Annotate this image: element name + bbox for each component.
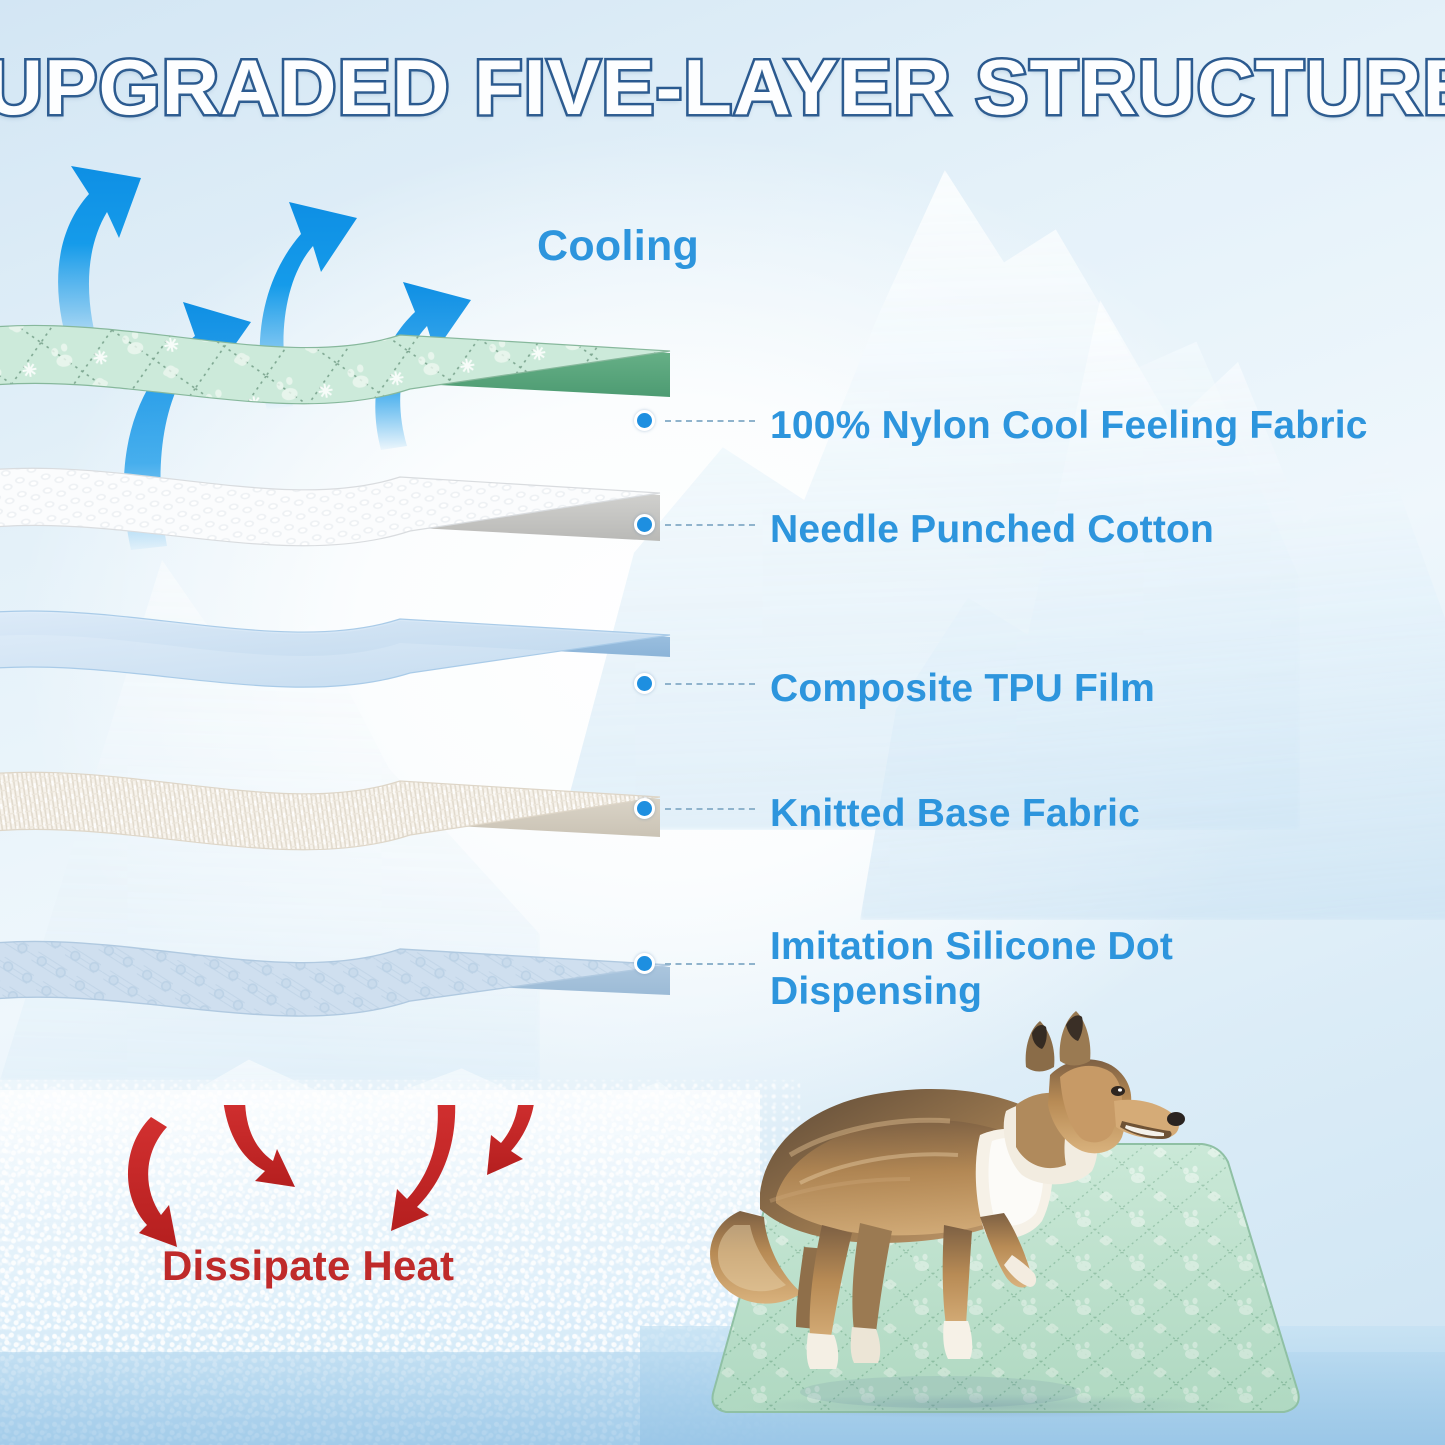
layer-5-label-line1: Imitation Silicone Dot	[770, 924, 1173, 970]
layer-3-tpu-film	[0, 611, 670, 687]
layer-1-leader-line	[665, 420, 755, 422]
layer-stack	[0, 355, 710, 1185]
heat-arrow-1-icon	[128, 1117, 177, 1247]
dog-shadow	[800, 1376, 1080, 1408]
heat-arrow-3-icon	[391, 1105, 455, 1231]
cooling-label: Cooling	[537, 222, 699, 271]
dog-nose	[1167, 1112, 1185, 1126]
layer-1-label: 100% Nylon Cool Feeling Fabric	[770, 403, 1368, 449]
layer-4-marker-dot[interactable]	[634, 798, 655, 819]
page-title: UPGRADED FIVE-LAYER STRUCTURE	[0, 48, 1445, 126]
layer-3-marker-dot[interactable]	[634, 673, 655, 694]
layer-4-knitted-base	[0, 772, 660, 850]
layer-5-silicone-dot	[0, 941, 670, 1016]
layer-1-marker-dot[interactable]	[634, 410, 655, 431]
heat-arrow-2-icon	[223, 1105, 295, 1187]
product-photo	[690, 1120, 1320, 1440]
layer-3-leader-line	[665, 683, 755, 685]
layer-3-label: Composite TPU Film	[770, 666, 1155, 712]
layer-4-label: Knitted Base Fabric	[770, 791, 1140, 837]
infographic-canvas: UPGRADED FIVE-LAYER STRUCTURE	[0, 0, 1445, 1445]
layer-5-leader-line	[665, 963, 755, 965]
dissipate-heat-label: Dissipate Heat	[162, 1242, 454, 1290]
heat-arrow-4-icon	[487, 1105, 535, 1175]
mat-and-dog-svg	[690, 1120, 1320, 1440]
layer-5-marker-dot[interactable]	[634, 953, 655, 974]
layer-5-label-line2: Dispensing	[770, 969, 982, 1015]
layer-2-label: Needle Punched Cotton	[770, 507, 1214, 553]
layer-2-needle-punched-cotton	[0, 468, 660, 546]
layer-stack-svg	[0, 355, 710, 1185]
layer-2-leader-line	[665, 524, 755, 526]
layer-2-marker-dot[interactable]	[634, 514, 655, 535]
layer-4-leader-line	[665, 808, 755, 810]
dog-eye	[1111, 1086, 1125, 1096]
